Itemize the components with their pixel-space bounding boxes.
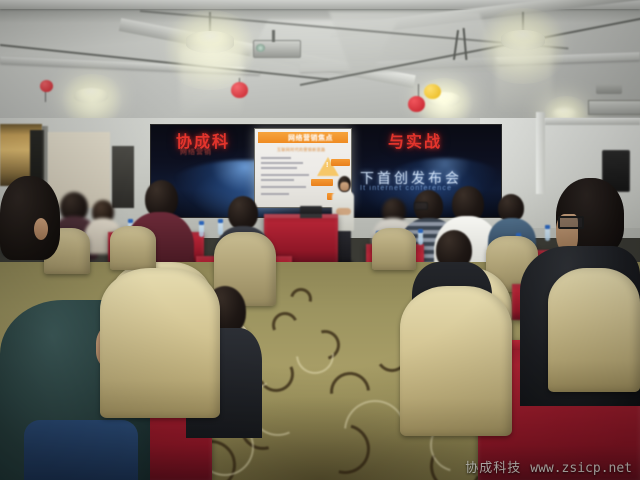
backdrop-subtitle-english: It internet conference	[360, 185, 452, 192]
foreground-person-teal-head	[0, 176, 60, 260]
ceiling-fixture-right	[596, 84, 622, 94]
backdrop-title-right: 与实战	[388, 128, 442, 152]
watermark-brand: 协成科技	[465, 461, 521, 476]
backdrop-small-text: 网络营销	[180, 147, 212, 157]
slide-body-line-1	[261, 157, 291, 159]
water-bottle-8	[545, 228, 550, 241]
water-bottle-cap-8	[545, 225, 550, 229]
conference-room-photo: 协成科 与实战 网络营销 下首创发布会 It internet conferen…	[0, 0, 640, 480]
slide-subheader-text: 互联网时代的营销新思路	[277, 147, 325, 153]
slide-warning-exclamation: !	[326, 162, 328, 169]
presenter-face	[340, 182, 349, 191]
balloon-yellow	[424, 84, 441, 99]
water-bottle-4	[218, 222, 223, 235]
slide-chip-1	[331, 159, 350, 166]
water-bottle-cap-3	[199, 221, 204, 225]
slide-chip-2	[311, 179, 333, 186]
projector-lens	[256, 44, 265, 52]
balloon-red-1	[40, 80, 53, 92]
ac-vent	[588, 100, 640, 115]
water-bottle-cap-4	[218, 219, 223, 223]
chair-mid-left-2	[110, 226, 156, 270]
watermark-url: www.zsicp.net	[530, 461, 632, 476]
balloon-red-3	[408, 96, 425, 112]
foreground-person-teal-jeans	[24, 420, 138, 480]
stage-table-highlight	[264, 214, 338, 218]
projector-mount	[272, 30, 275, 42]
water-bottle-cap-6	[418, 229, 423, 233]
slide-body-line-2	[261, 162, 303, 164]
slide-body-line-5	[261, 179, 294, 181]
light-beam-1	[180, 48, 242, 118]
water-bottle-6	[418, 232, 423, 245]
right-wall-column	[536, 112, 545, 194]
glasses-icon-foreground	[558, 216, 584, 229]
chair-front-left	[100, 268, 220, 418]
water-bottle-cap-1	[128, 219, 133, 223]
slide-header-text: 网络营销焦点	[288, 133, 333, 143]
slide-body-line-4	[261, 174, 309, 176]
right-wall-trim	[545, 118, 640, 125]
slide-body-line-6	[261, 186, 306, 188]
audience-head-row2-woman	[228, 196, 258, 230]
chair-front-center	[400, 286, 512, 436]
glasses-icon-right	[414, 202, 428, 210]
watermark: 协成科技www.zsicp.net	[465, 457, 632, 476]
slide-body-line-7	[261, 193, 289, 195]
chair-front-right	[548, 268, 640, 392]
slide-body-line-3	[261, 167, 297, 169]
presenter-legs	[336, 228, 351, 264]
foreground-person-teal-ear	[34, 218, 48, 240]
water-bottle-3	[199, 224, 204, 237]
chair-right-back-1	[372, 228, 416, 270]
presenter-hands	[336, 208, 351, 215]
balloon-red-2	[231, 82, 248, 98]
left-wall-dark-door	[112, 146, 134, 208]
